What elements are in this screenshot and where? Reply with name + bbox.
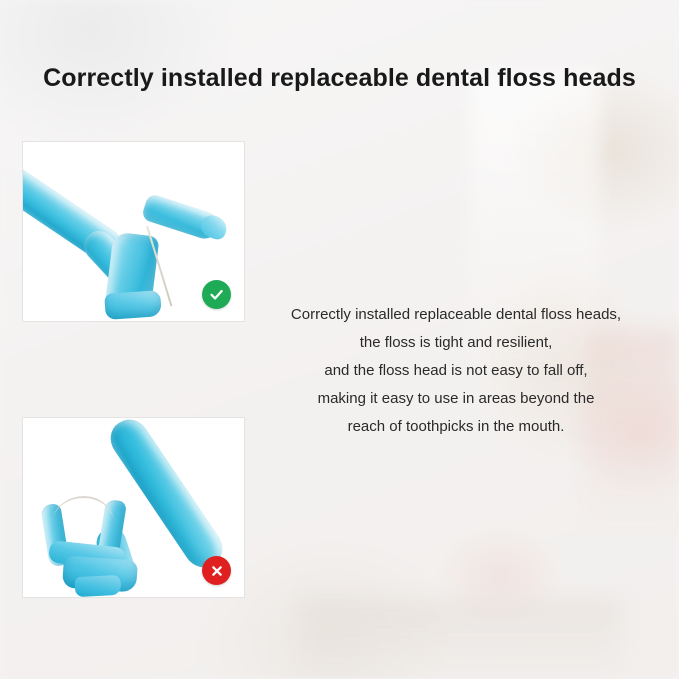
section-correct: Correctly installed replaceable dental f…	[0, 141, 679, 323]
section-incorrect: This installation method is incorrect, t…	[0, 417, 679, 598]
background-highlight-floor	[300, 600, 620, 679]
description-line: and the floss head is not easy to fall o…	[268, 357, 644, 385]
description-line: making it easy to use in areas beyond th…	[268, 385, 644, 413]
description-line: Correctly installed replaceable dental f…	[268, 301, 644, 329]
floss-head-base-tip	[75, 575, 122, 597]
infographic-page: Correctly installed replaceable dental f…	[0, 0, 679, 679]
floss-head-base	[104, 290, 162, 320]
page-title: Correctly installed replaceable dental f…	[0, 61, 679, 95]
floss-string-slack	[52, 494, 115, 525]
check-circle-icon	[202, 280, 231, 309]
x-circle-icon	[202, 556, 231, 585]
product-photo-card-correct	[22, 141, 245, 322]
product-photo-card-incorrect	[22, 417, 245, 598]
description-line: the floss is tight and resilient,	[268, 329, 644, 357]
